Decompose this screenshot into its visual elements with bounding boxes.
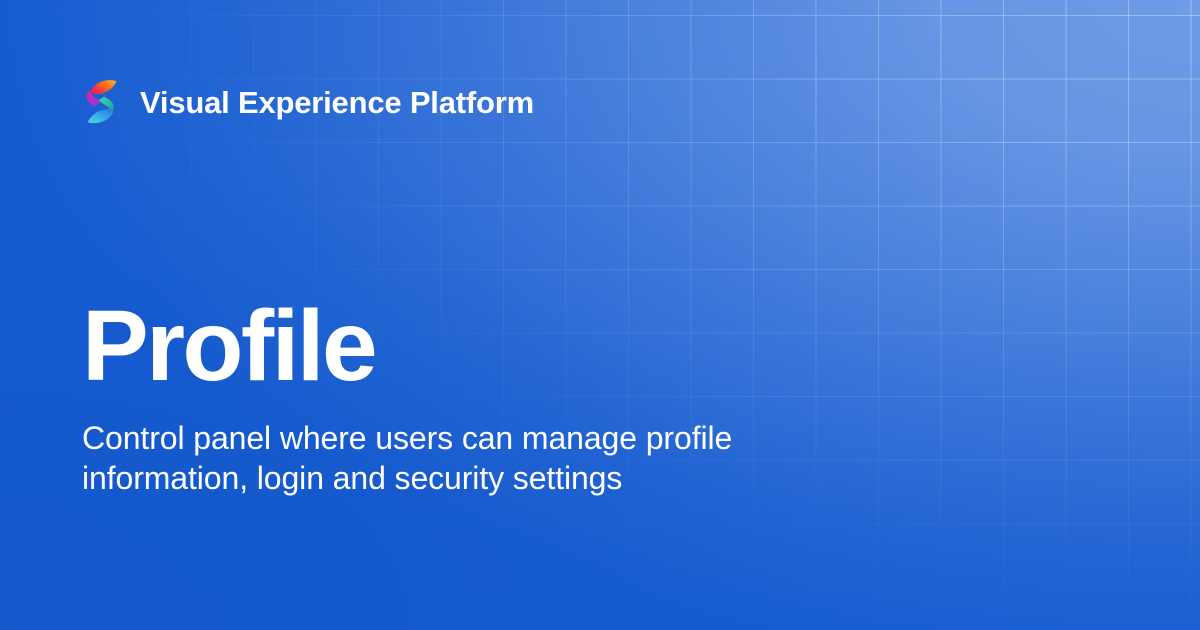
brand-name: Visual Experience Platform: [140, 87, 534, 118]
content-layer: Visual Experience Platform Profile Contr…: [0, 0, 1200, 630]
logo-leaf-bottom: [88, 109, 114, 123]
og-card: Visual Experience Platform Profile Contr…: [0, 0, 1200, 630]
page-title: Profile: [82, 296, 842, 396]
sprinklr-ribbon-s-logo-icon: [82, 78, 122, 126]
page-description: Control panel where users can manage pro…: [82, 418, 772, 498]
logo-leaf-top: [91, 80, 116, 94]
brand-header: Visual Experience Platform: [82, 76, 534, 128]
hero-block: Profile Control panel where users can ma…: [82, 296, 842, 498]
